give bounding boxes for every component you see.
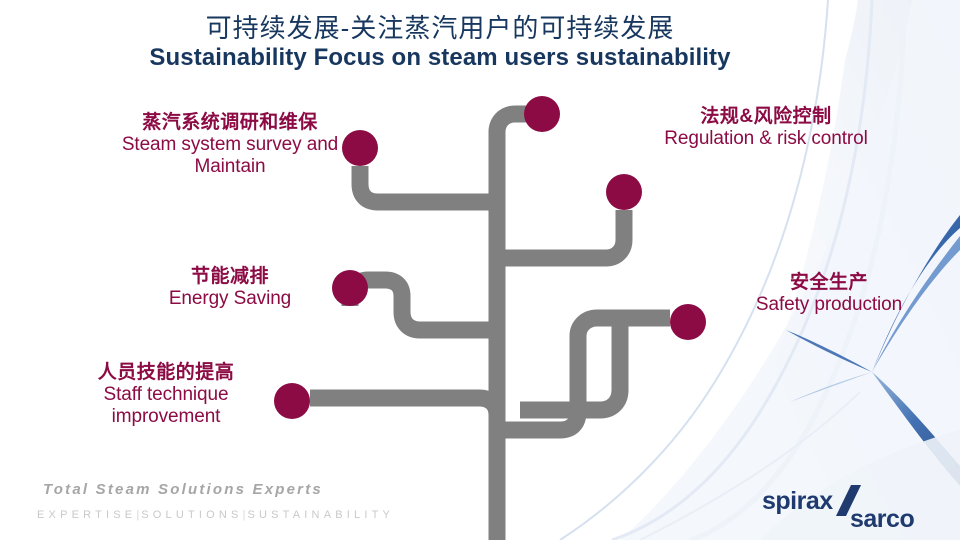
node-safety[interactable] [670, 304, 706, 340]
branch-to-energy-outer [368, 280, 497, 330]
label-safety-english: Safety production [718, 294, 940, 316]
footer-tagline: Total Steam Solutions Experts [43, 481, 323, 498]
label-energy-saving: 节能减排 Energy Saving [120, 266, 340, 310]
label-staff-chinese: 人员技能的提高 [56, 362, 276, 384]
node-risk[interactable] [606, 174, 642, 210]
slide-canvas: 可持续发展-关注蒸汽用户的可持续发展 Sustainability Focus … [0, 0, 960, 540]
branch-to-risk [497, 210, 624, 258]
node-staff[interactable] [274, 383, 310, 419]
label-energy-chinese: 节能减排 [120, 266, 340, 288]
branch-to-staff [310, 398, 497, 415]
footer-pillars: EXPERTISE|SOLUTIONS|SUSTAINABILITY [37, 509, 394, 521]
spirax-sarco-logo: spirax sarco [762, 485, 947, 533]
footer-pillar-sustainability: SUSTAINABILITY [247, 509, 394, 521]
node-regulation[interactable] [524, 96, 560, 132]
label-staff-technique-improvement: 人员技能的提高 Staff technique improvement [56, 362, 276, 428]
label-regulation-chinese: 法规&风险控制 [655, 106, 877, 128]
footer-pillar-solutions: SOLUTIONS [141, 509, 242, 521]
label-staff-english: Staff technique improvement [56, 384, 276, 428]
label-survey-chinese: 蒸汽系统调研和维保 [108, 112, 352, 134]
label-safety-chinese: 安全生产 [718, 272, 940, 294]
logo-word-spirax: spirax [762, 487, 833, 515]
footer-pillar-expertise: EXPERTISE [37, 509, 136, 521]
label-regulation-english: Regulation & risk control [655, 128, 877, 150]
label-regulation-risk-control: 法规&风险控制 Regulation & risk control [655, 106, 877, 150]
branch-to-survey [360, 166, 497, 202]
label-survey-english: Steam system survey and Maintain [108, 134, 352, 178]
logo-word-sarco: sarco [850, 505, 914, 533]
label-safety-production: 安全生产 Safety production [718, 272, 940, 316]
label-steam-system-survey: 蒸汽系统调研和维保 Steam system survey and Mainta… [108, 112, 352, 178]
label-energy-english: Energy Saving [120, 288, 340, 310]
